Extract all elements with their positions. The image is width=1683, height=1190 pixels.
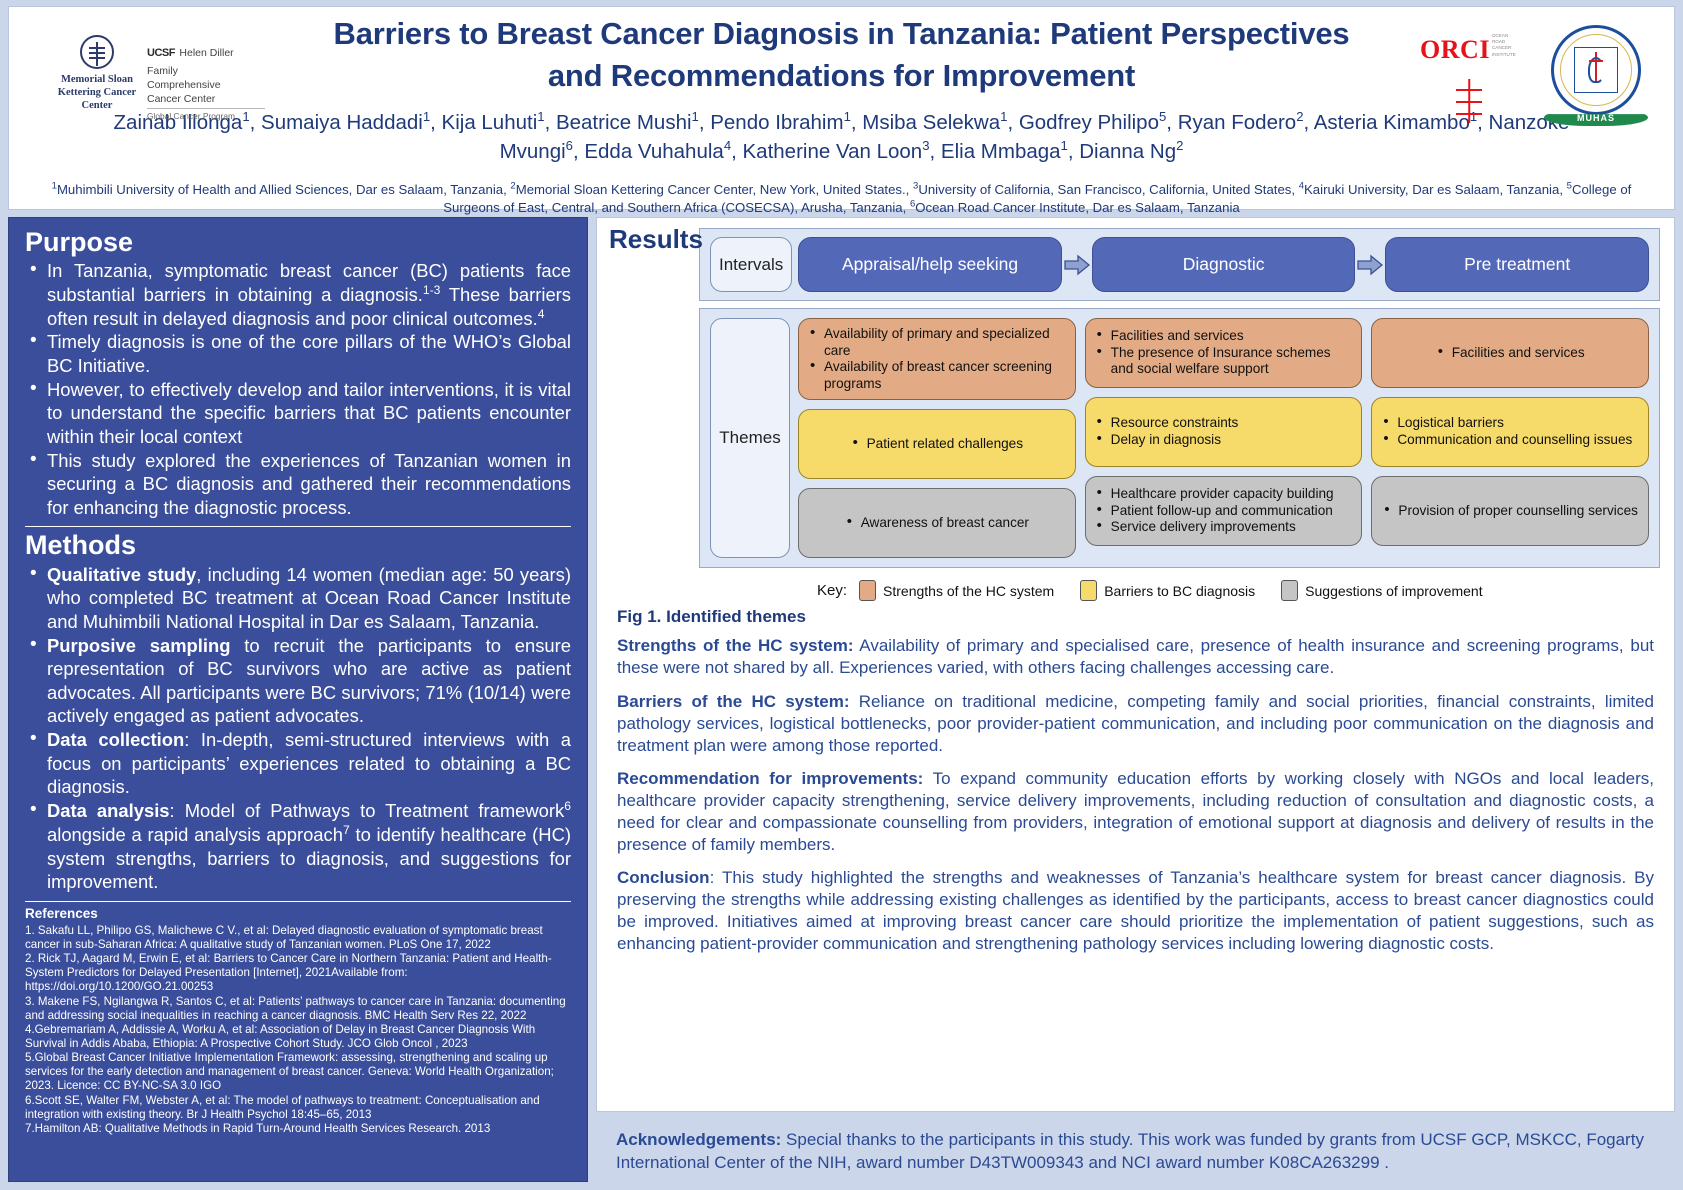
methods-bullet-lead: Qualitative study — [47, 564, 196, 585]
purpose-bullet: However, to effectively develop and tail… — [25, 378, 571, 449]
purpose-bullet: In Tanzania, symptomatic breast cancer (… — [25, 259, 571, 330]
intervals-row: Appraisal/help seekingDiagnosticPre trea… — [798, 237, 1649, 292]
figure-caption: Fig 1. Identified themes — [617, 607, 1660, 627]
key-swatch — [1281, 580, 1298, 601]
suggestion-box: Awareness of breast cancer — [798, 488, 1076, 558]
methods-bullet-lead: Purposive sampling — [47, 635, 230, 656]
theme-item: Delay in diagnosis — [1095, 432, 1353, 449]
strength-box: Facilities and servicesThe presence of I… — [1085, 318, 1363, 388]
purpose-bullet: This study explored the experiences of T… — [25, 449, 571, 520]
ucsf-sub-label: Global Cancer Program — [147, 108, 265, 121]
flow-arrow-icon — [1062, 237, 1092, 292]
right-panel: Results Intervals Appraisal/help seeking… — [596, 217, 1675, 1182]
strength-box: Availability of primary and specialized … — [798, 318, 1076, 400]
key-item-label: Barriers to BC diagnosis — [1104, 583, 1255, 599]
theme-columns: Availability of primary and specialized … — [798, 318, 1649, 558]
key-item: Strengths of the HC system — [859, 580, 1054, 601]
theme-item: The presence of Insurance schemes and so… — [1095, 345, 1353, 378]
key-item-label: Suggestions of improvement — [1305, 583, 1482, 599]
results-paragraph: Conclusion: This study highlighted the s… — [617, 867, 1654, 955]
methods-bullets: Qualitative study, including 14 women (m… — [25, 563, 571, 894]
affiliation-list: 1Muhimbili University of Health and Alli… — [23, 180, 1660, 216]
author-line-2: Mvungi6, Edda Vuhahula4, Katherine Van L… — [51, 137, 1632, 166]
results-paragraph: Barriers of the HC system: Reliance on t… — [617, 691, 1654, 757]
theme-column: Availability of primary and specialized … — [798, 318, 1076, 558]
results-paragraph-body: : This study highlighted the strengths a… — [617, 868, 1654, 953]
barrier-box: Patient related challenges — [798, 409, 1076, 479]
reference-item: 5.Global Breast Cancer Initiative Implem… — [25, 1051, 571, 1093]
muhas-label: MUHAS — [1540, 113, 1652, 123]
theme-item: Logistical barriers — [1381, 415, 1639, 432]
results-paragraph: Strengths of the HC system: Availability… — [617, 635, 1654, 679]
ucsf-line-3: Cancer Center — [147, 93, 265, 107]
theme-item: Communication and counselling issues — [1381, 432, 1639, 449]
muhas-logo: MUHAS — [1540, 25, 1652, 137]
references-list: 1. Sakafu LL, Philipo GS, Malichewe C V.… — [25, 924, 571, 1136]
suggestion-box: Provision of proper counselling services — [1371, 476, 1649, 546]
muhas-ribbon: MUHAS — [1540, 101, 1652, 131]
msk-emblem-icon — [80, 35, 114, 69]
intervals-band: Intervals Appraisal/help seekingDiagnost… — [699, 228, 1660, 301]
key-swatch — [1080, 580, 1097, 601]
themes-band: Themes Availability of primary and speci… — [699, 308, 1660, 568]
intervals-label: Intervals — [710, 237, 792, 292]
references-heading: References — [25, 906, 571, 921]
theme-item: Awareness of breast cancer — [845, 515, 1029, 532]
strength-box: Facilities and services — [1371, 318, 1649, 388]
methods-heading: Methods — [25, 531, 571, 560]
poster-body: Purpose In Tanzania, symptomatic breast … — [8, 217, 1675, 1182]
orci-cross-icon — [1414, 79, 1524, 123]
orci-sub-label: OCEAN ROAD CANCER INSTITUTE — [1492, 33, 1518, 58]
reference-item: 6.Scott SE, Walter FM, Webster A, et al:… — [25, 1094, 571, 1122]
theme-item: Facilities and services — [1095, 328, 1353, 345]
barrier-box: Resource constraintsDelay in diagnosis — [1085, 397, 1363, 467]
reference-item: 3. Makene FS, Ngilangwa R, Santos C, et … — [25, 995, 571, 1023]
orci-logo: ORCI OCEAN ROAD CANCER INSTITUTE — [1414, 35, 1524, 123]
results-card: Results Intervals Appraisal/help seeking… — [596, 217, 1675, 1112]
theme-item: Resource constraints — [1095, 415, 1353, 432]
methods-divider — [25, 901, 571, 902]
interval-box: Appraisal/help seeking — [798, 237, 1062, 292]
key-swatch — [859, 580, 876, 601]
flow-arrow-icon — [1355, 237, 1385, 292]
results-paragraph-lead: Conclusion — [617, 868, 710, 887]
reference-item: 7.Hamilton AB: Qualitative Methods in Ra… — [25, 1122, 571, 1136]
figure-1: Intervals Appraisal/help seekingDiagnost… — [699, 228, 1660, 601]
key-item-label: Strengths of the HC system — [883, 583, 1054, 599]
results-paragraph-lead: Recommendation for improvements: — [617, 769, 923, 788]
theme-item: Availability of primary and specialized … — [808, 326, 1066, 359]
ucsf-logo: UCSF Helen Diller Family Comprehensive C… — [147, 43, 265, 121]
key-item: Barriers to BC diagnosis — [1080, 580, 1255, 601]
purpose-bullet: Timely diagnosis is one of the core pill… — [25, 330, 571, 377]
interval-box: Pre treatment — [1385, 237, 1649, 292]
methods-bullet: Data collection: In-depth, semi-structur… — [25, 728, 571, 799]
themes-label: Themes — [710, 318, 790, 558]
poster-header: Memorial Sloan Kettering Cancer Center U… — [8, 6, 1675, 210]
msk-logo: Memorial Sloan Kettering Cancer Center — [51, 35, 143, 112]
poster-title-line-1: Barriers to Breast Cancer Diagnosis in T… — [253, 13, 1430, 55]
theme-item: Service delivery improvements — [1095, 519, 1353, 536]
purpose-divider — [25, 526, 571, 527]
ucsf-wordmark: UCSF — [147, 47, 175, 59]
theme-column: Facilities and servicesThe presence of I… — [1085, 318, 1363, 558]
acknowledgements-card: Acknowledgements: Special thanks to the … — [596, 1119, 1675, 1182]
results-paragraph-lead: Barriers of the HC system: — [617, 692, 850, 711]
results-paragraph: Recommendation for improvements: To expa… — [617, 768, 1654, 856]
methods-bullet-lead: Data analysis — [47, 800, 170, 821]
methods-bullet: Data analysis: Model of Pathways to Trea… — [25, 799, 571, 894]
results-paragraphs: Strengths of the HC system: Availability… — [611, 635, 1660, 955]
acknowledgements-text: Acknowledgements: Special thanks to the … — [616, 1129, 1657, 1174]
theme-item: Healthcare provider capacity building — [1095, 486, 1353, 503]
interval-box: Diagnostic — [1092, 237, 1356, 292]
methods-bullet-lead: Data collection — [47, 729, 184, 750]
results-heading: Results — [609, 224, 703, 255]
suggestion-box: Healthcare provider capacity buildingPat… — [1085, 476, 1363, 546]
methods-bullet: Purposive sampling to recruit the partic… — [25, 634, 571, 729]
figure-key: Key: Strengths of the HC systemBarriers … — [817, 580, 1660, 601]
theme-item: Availability of breast cancer screening … — [808, 359, 1066, 392]
purpose-heading: Purpose — [25, 228, 571, 257]
results-paragraph-lead: Strengths of the HC system: — [617, 636, 854, 655]
purpose-bullets: In Tanzania, symptomatic breast cancer (… — [25, 259, 571, 519]
theme-item: Patient follow-up and communication — [1095, 503, 1353, 520]
msk-logo-label: Memorial Sloan Kettering Cancer Center — [51, 73, 143, 112]
author-line-1: Zainab Illonga1, Sumaiya Haddadi1, Kija … — [51, 108, 1632, 137]
left-panel: Purpose In Tanzania, symptomatic breast … — [8, 217, 588, 1182]
reference-item: 4.Gebremariam A, Addissie A, Worku A, et… — [25, 1023, 571, 1051]
reference-item: 2. Rick TJ, Aagard M, Erwin E, et al: Ba… — [25, 952, 571, 994]
orci-wordmark: ORCI — [1420, 35, 1490, 65]
ucsf-line-2: Comprehensive — [147, 79, 265, 93]
poster-root: Memorial Sloan Kettering Cancer Center U… — [0, 0, 1683, 1190]
poster-title-line-2: and Recommendations for Improvement — [253, 55, 1430, 97]
key-item: Suggestions of improvement — [1281, 580, 1482, 601]
barrier-box: Logistical barriersCommunication and cou… — [1371, 397, 1649, 467]
theme-item: Provision of proper counselling services — [1382, 503, 1638, 520]
theme-item: Facilities and services — [1436, 345, 1585, 362]
key-label: Key: — [817, 582, 847, 599]
methods-bullet: Qualitative study, including 14 women (m… — [25, 563, 571, 634]
theme-column: Facilities and servicesLogistical barrie… — [1371, 318, 1649, 558]
reference-item: 1. Sakafu LL, Philipo GS, Malichewe C V.… — [25, 924, 571, 952]
theme-item: Patient related challenges — [851, 436, 1023, 453]
acknowledgements-label: Acknowledgements: — [616, 1130, 781, 1149]
